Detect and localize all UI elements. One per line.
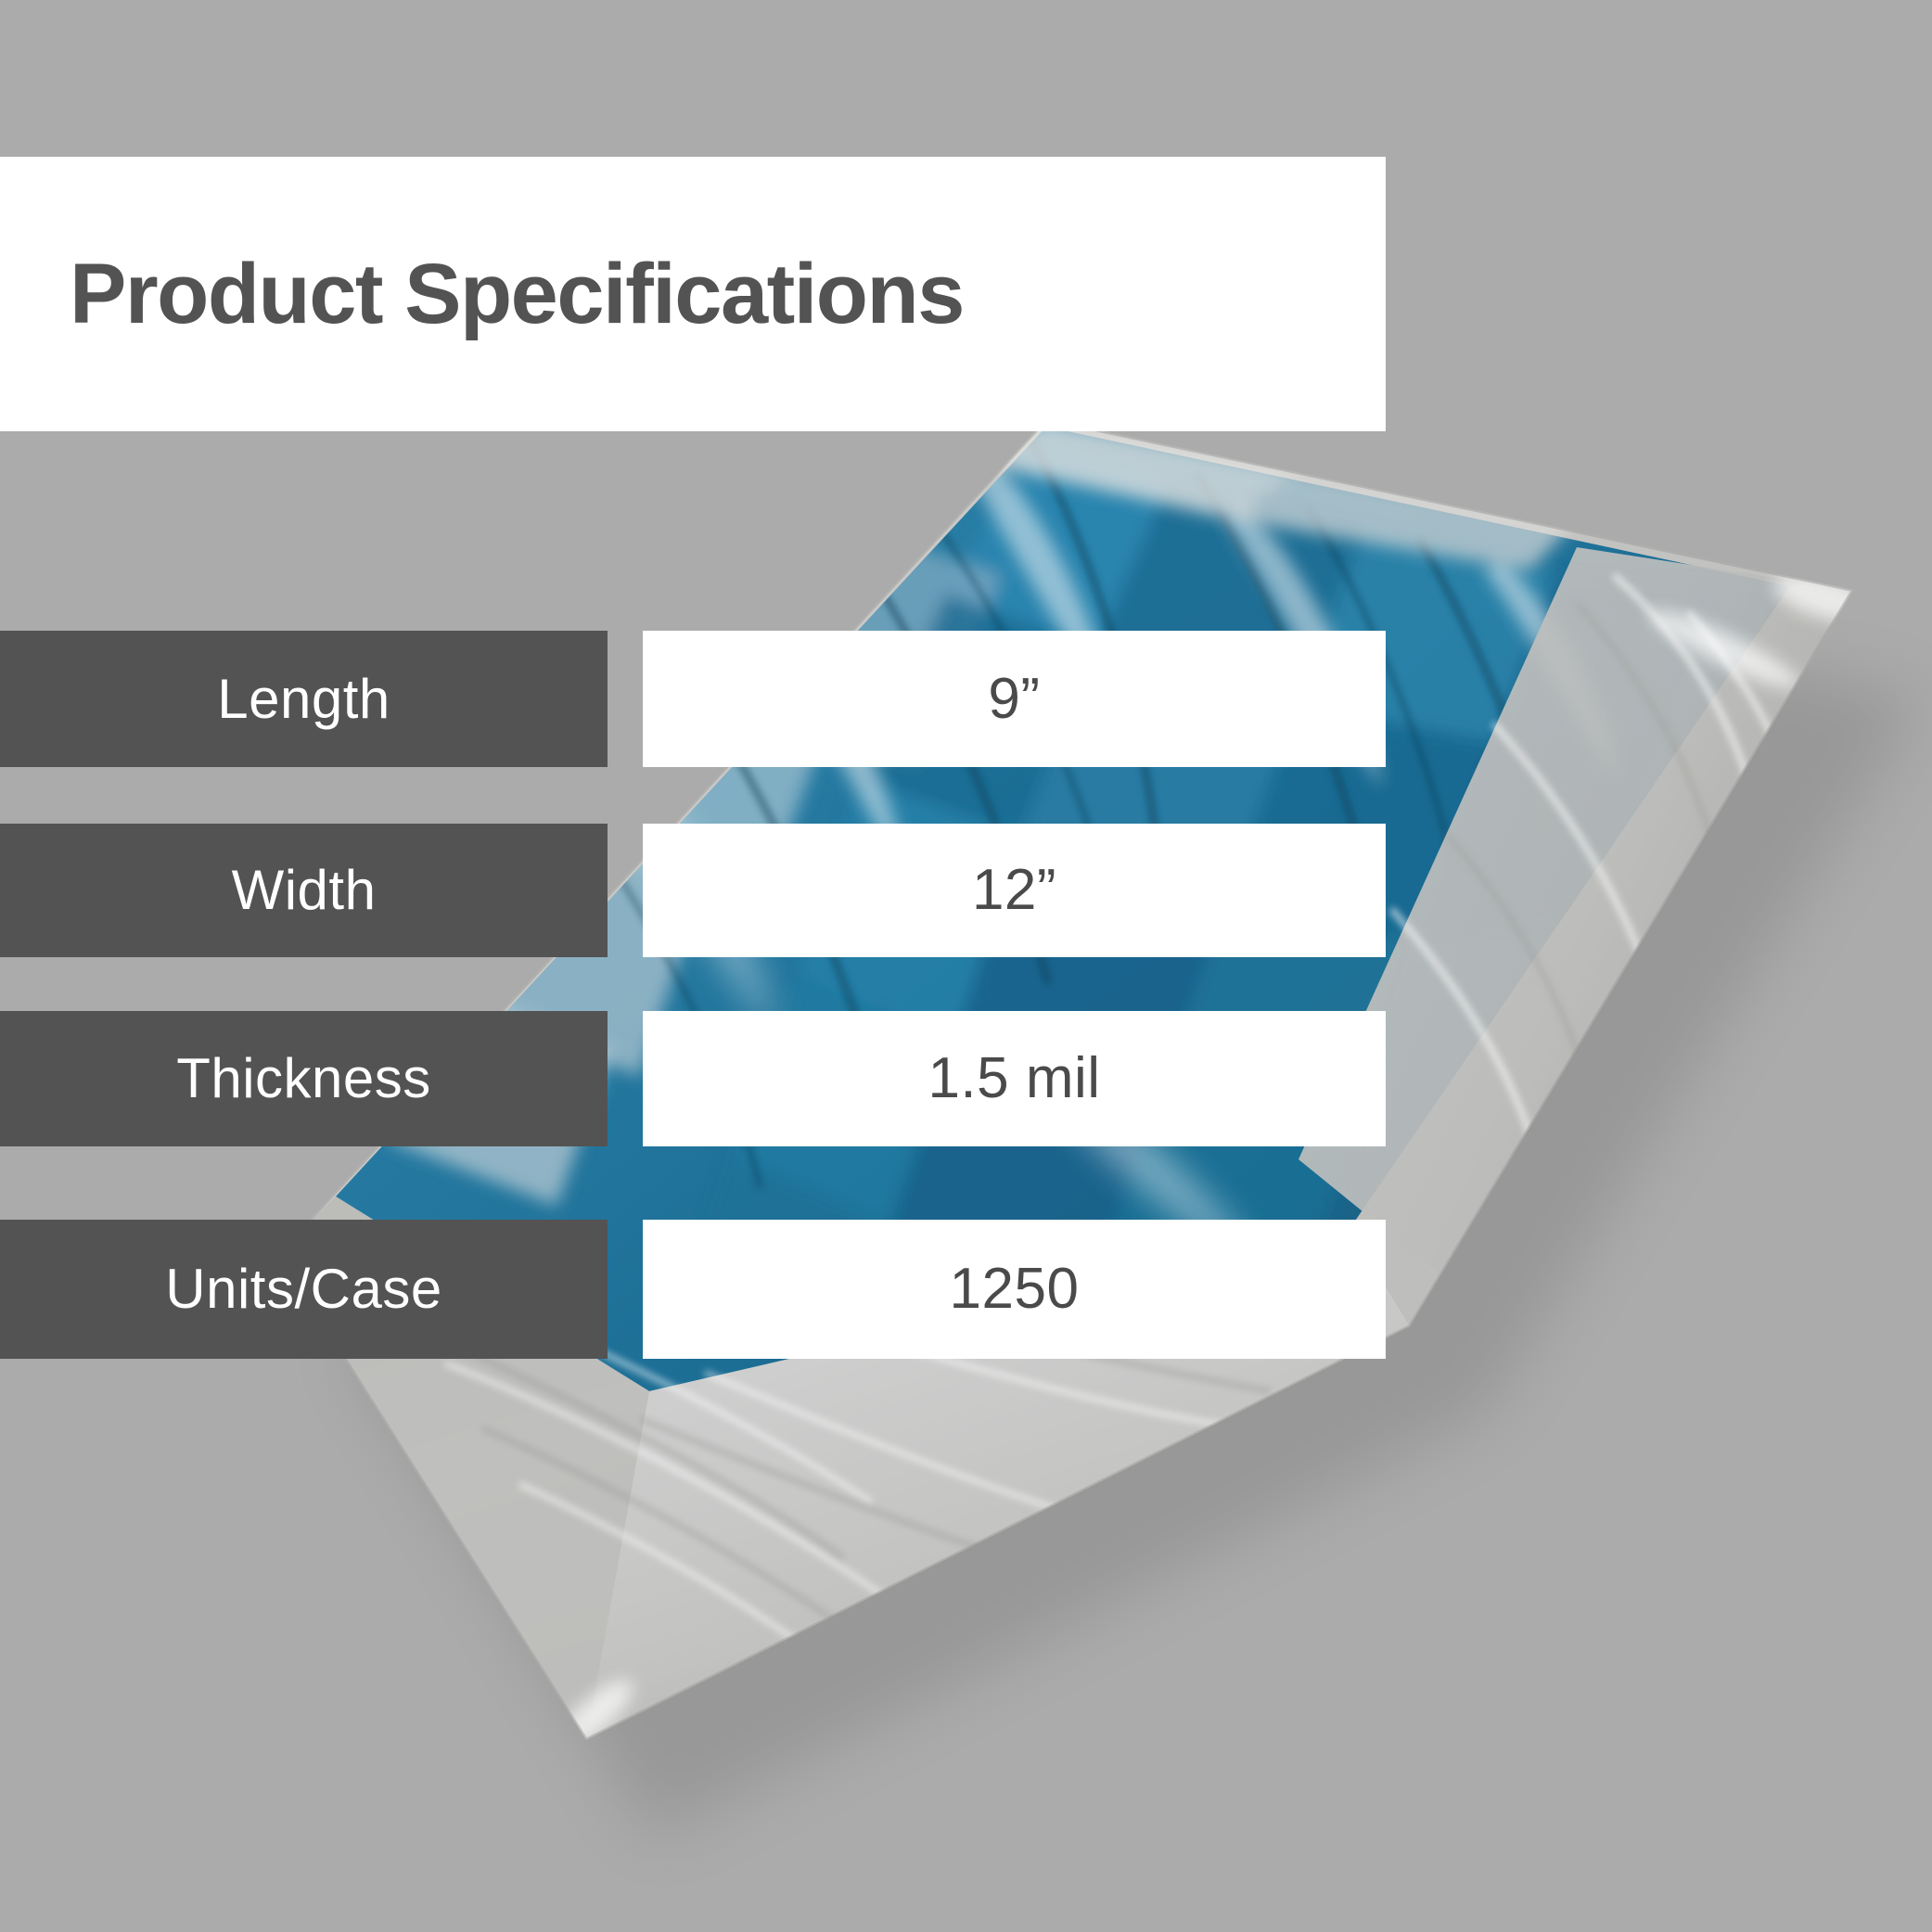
page-title: Product Specifications <box>70 251 964 337</box>
table-row: Length 9” <box>0 631 1386 767</box>
spec-value-text: 9” <box>988 671 1040 728</box>
spec-value-text: 12” <box>972 862 1056 919</box>
product-spec-card: Product Specifications Length 9” Width 1… <box>0 0 1932 1932</box>
spec-label-text: Thickness <box>176 1051 431 1107</box>
spec-value-cell: 1250 <box>643 1220 1386 1359</box>
spec-value-text: 1250 <box>950 1260 1080 1318</box>
spec-label-text: Length <box>217 672 390 727</box>
spec-value-cell: 9” <box>643 631 1386 767</box>
spec-label-text: Width <box>232 863 377 918</box>
spec-label-cell: Units/Case <box>0 1220 608 1359</box>
table-row: Thickness 1.5 mil <box>0 1011 1386 1146</box>
spec-label-cell: Width <box>0 824 608 957</box>
spec-label-cell: Length <box>0 631 608 767</box>
table-row: Units/Case 1250 <box>0 1220 1386 1359</box>
spec-label-cell: Thickness <box>0 1011 608 1146</box>
spec-value-cell: 1.5 mil <box>643 1011 1386 1146</box>
table-row: Width 12” <box>0 824 1386 957</box>
spec-label-text: Units/Case <box>165 1261 441 1317</box>
spec-value-text: 1.5 mil <box>928 1050 1100 1107</box>
title-banner: Product Specifications <box>0 157 1386 431</box>
spec-value-cell: 12” <box>643 824 1386 957</box>
